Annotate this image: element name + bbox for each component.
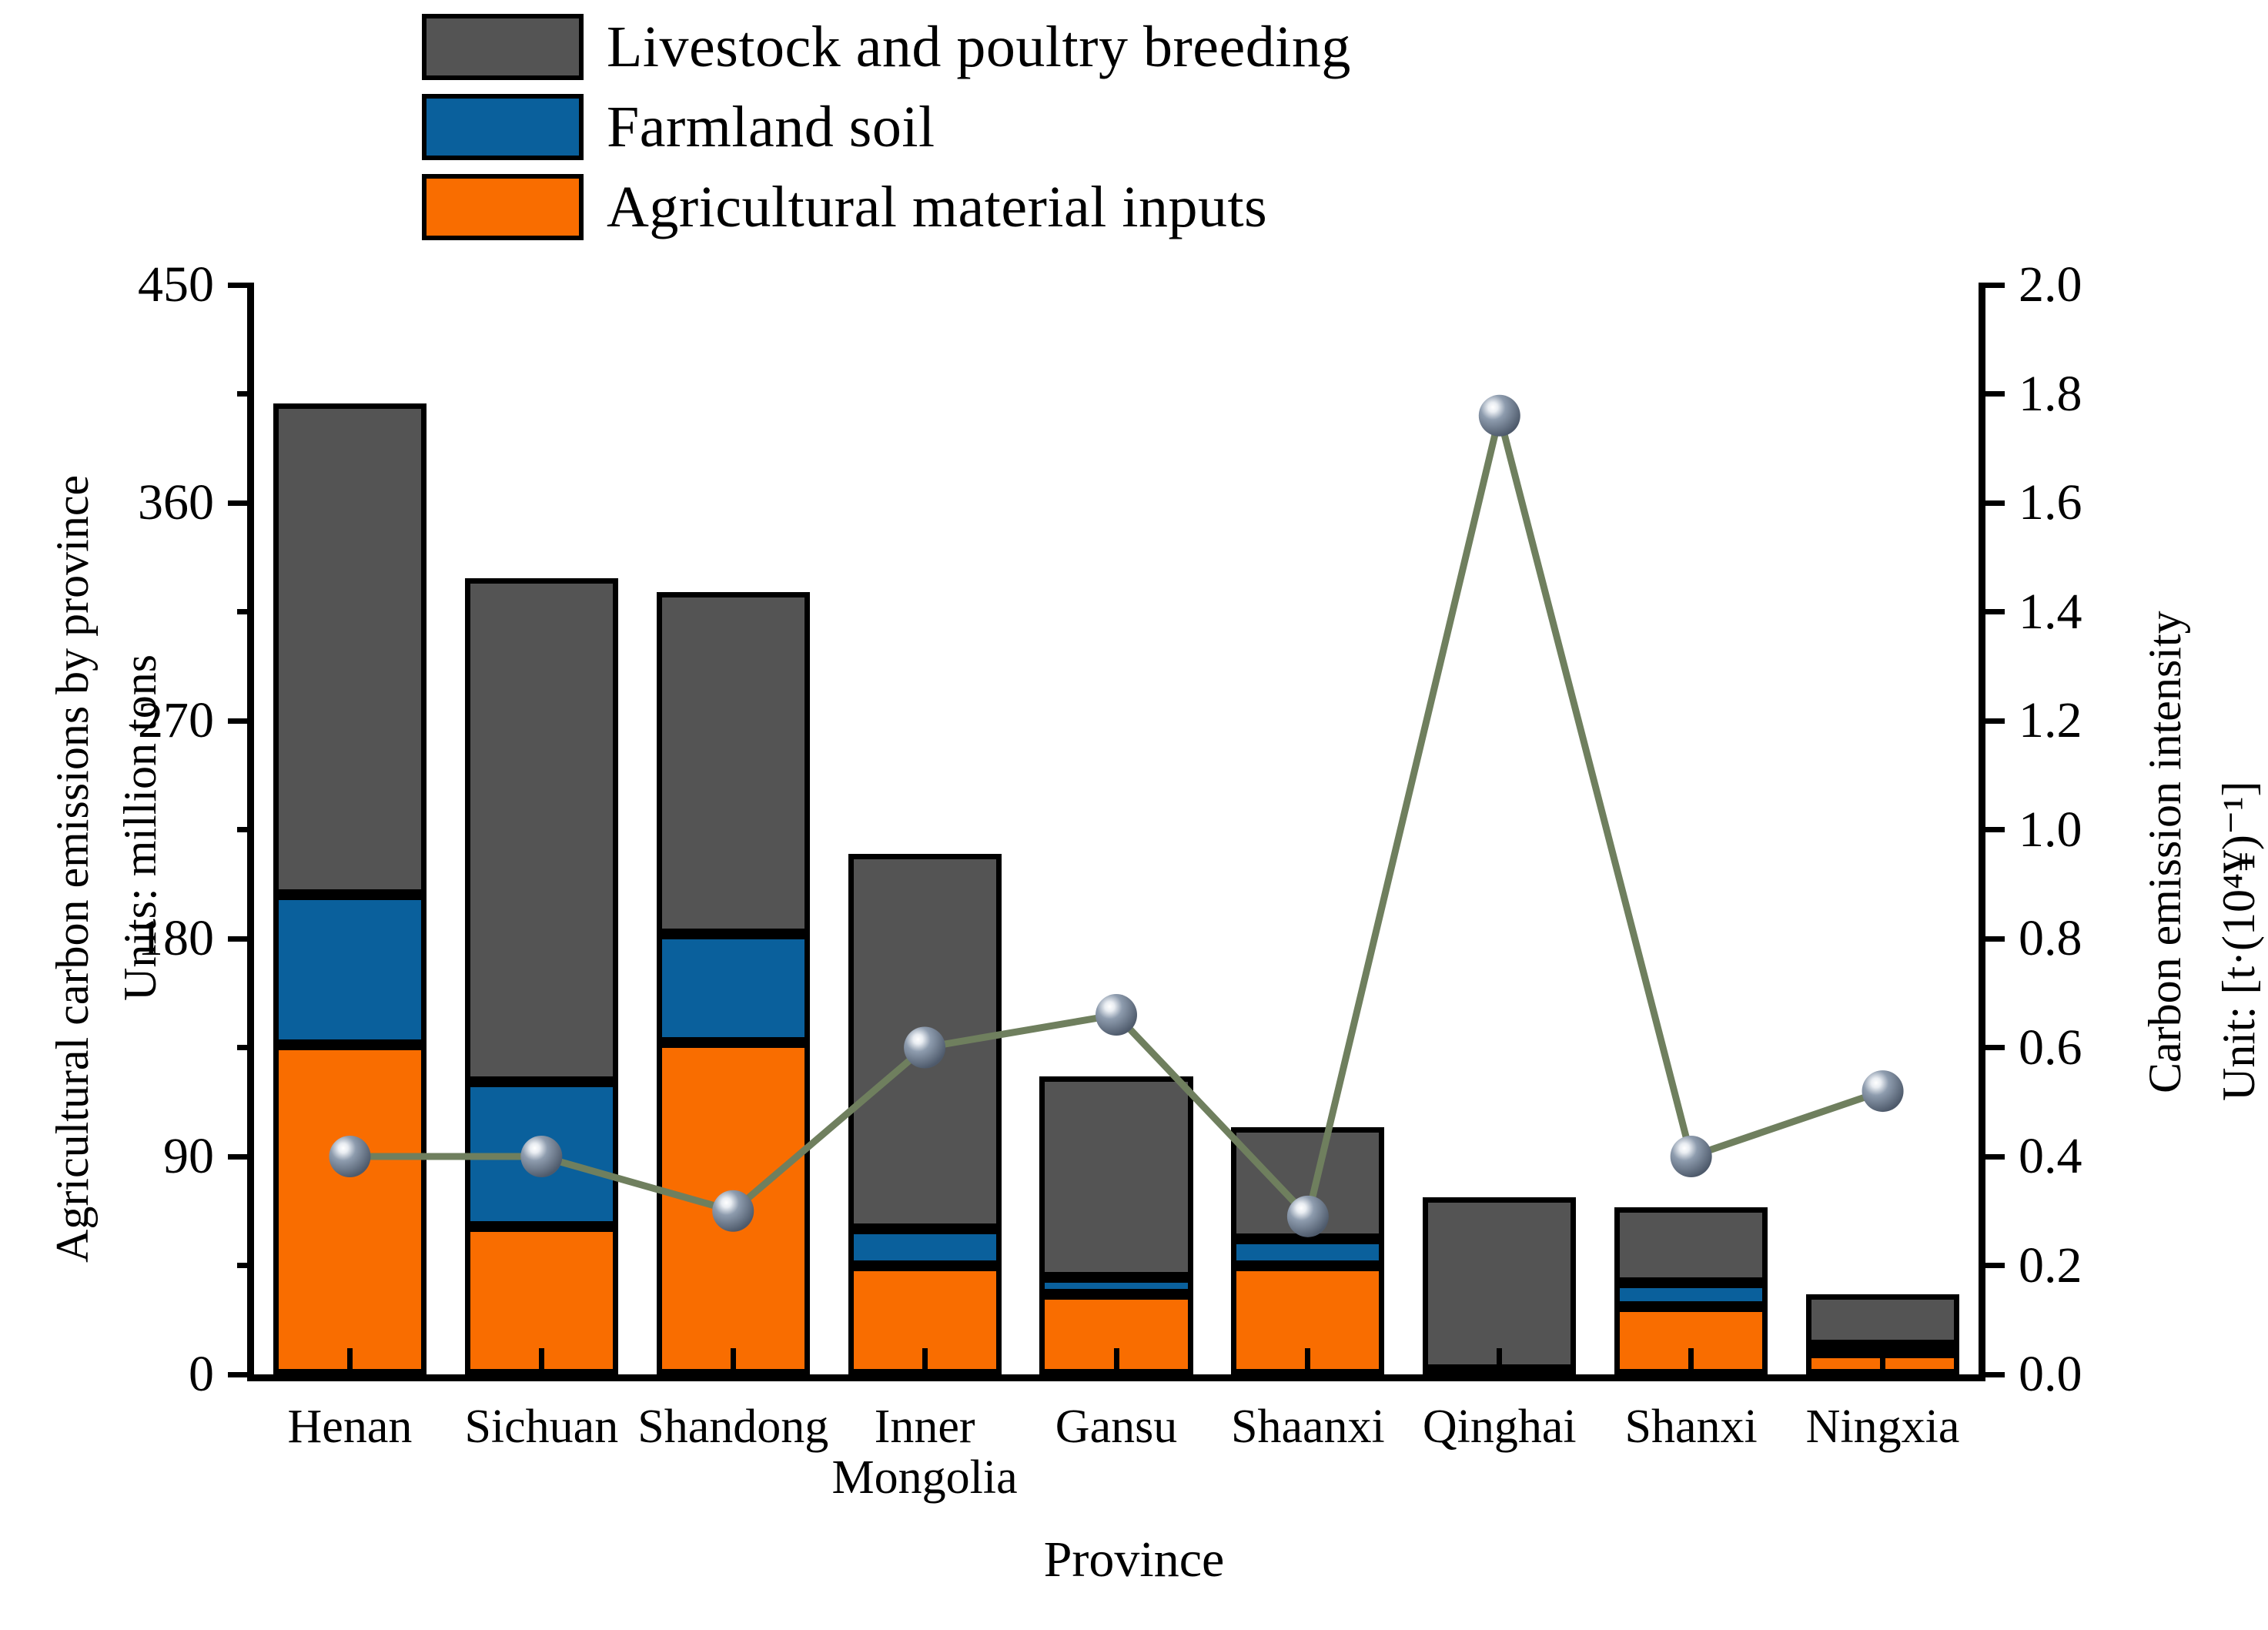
x-axis-label-text: Shanxi [1625,1402,1758,1453]
x-axis-label-text: Shandong [637,1402,828,1453]
x-axis-title: Province [0,1531,2268,1589]
intensity-marker-henan[interactable] [329,1136,370,1177]
right-tick-label-1.6: 1.6 [2019,477,2082,528]
x-axis-label-gansu: Gansu [1055,1402,1177,1453]
sphere-marker-icon [329,1136,370,1177]
left-minor-tick [237,1045,254,1050]
x-tick-shandong [731,1348,736,1374]
right-tick-label-0.2: 0.2 [2019,1240,2082,1291]
x-tick-inner-mongolia [922,1348,928,1374]
right-tick-2.0 [1979,283,2005,288]
right-tick-1.8 [1979,391,2005,397]
legend-item-inputs[interactable]: Agricultural material inputs [422,174,1351,240]
right-tick-0.0 [1979,1372,2005,1377]
left-tick-180 [228,936,254,942]
sphere-marker-icon [712,1190,754,1232]
left-minor-tick [237,1263,254,1268]
legend-swatch-livestock [422,14,584,80]
right-tick-0.6 [1979,1045,2005,1050]
right-tick-label-1.2: 1.2 [2019,695,2082,746]
x-axis-label-text: Ningxia [1806,1402,1960,1453]
legend-item-livestock[interactable]: Livestock and poultry breeding [422,14,1351,80]
left-tick-label-180: 180 [138,913,214,964]
intensity-marker-sichuan[interactable] [520,1136,562,1177]
x-axis-label-text: Mongolia [832,1453,1018,1504]
intensity-line-series [254,285,1979,1374]
right-tick-label-1.8: 1.8 [2019,369,2082,420]
sphere-marker-icon [1671,1136,1712,1177]
intensity-marker-qinghai[interactable] [1479,395,1520,437]
right-tick-1.2 [1979,718,2005,724]
right-tick-label-2.0: 2.0 [2019,259,2082,310]
right-tick-label-0.6: 0.6 [2019,1023,2082,1073]
right-tick-0.2 [1979,1263,2005,1268]
legend-label-inputs: Agricultural material inputs [607,178,1267,236]
x-axis-label-text: Sichuan [464,1402,618,1453]
intensity-marker-shaanxi[interactable] [1287,1196,1329,1237]
x-axis-label-text: Qinghai [1423,1402,1577,1453]
sphere-marker-icon [1479,395,1520,437]
x-axis-label-text: Gansu [1055,1402,1177,1453]
sphere-marker-icon [1096,994,1137,1036]
right-axis-title-line1: Carbon emission intensity [2142,611,2188,1093]
left-minor-tick [237,391,254,397]
x-tick-qinghai [1497,1348,1502,1374]
left-minor-tick [237,609,254,614]
left-tick-label-450: 450 [138,259,214,310]
intensity-marker-shandong[interactable] [712,1190,754,1232]
right-tick-1.0 [1979,827,2005,832]
left-minor-tick [237,827,254,832]
left-tick-90 [228,1154,254,1160]
x-axis-label-shanxi: Shanxi [1625,1402,1758,1453]
left-tick-label-0: 0 [189,1349,214,1400]
plot-area: 090180270360450 0.00.20.40.60.81.01.21.4… [254,285,1979,1374]
sphere-marker-icon [520,1136,562,1177]
right-tick-0.4 [1979,1154,2005,1160]
right-tick-label-1.0: 1.0 [2019,805,2082,855]
right-tick-label-0.4: 0.4 [2019,1131,2082,1182]
right-tick-label-0.8: 0.8 [2019,913,2082,964]
right-tick-0.8 [1979,936,2005,942]
right-tick-1.6 [1979,500,2005,506]
x-axis-label-text: Henan [288,1402,413,1453]
left-tick-label-360: 360 [138,477,214,528]
intensity-marker-ningxia[interactable] [1862,1070,1904,1112]
sphere-marker-icon [1287,1196,1329,1237]
x-tick-gansu [1114,1348,1119,1374]
intensity-marker-shanxi[interactable] [1671,1136,1712,1177]
legend-item-farmland[interactable]: Farmland soil [422,94,1351,160]
x-axis-label-shandong: Shandong [637,1402,828,1453]
x-axis-label-ningxia: Ningxia [1806,1402,1960,1453]
x-axis-label-inner-mongolia: InnerMongolia [832,1402,1018,1503]
left-tick-0 [228,1372,254,1377]
left-axis-title-line1: Agricultural carbon emissions by provinc… [49,475,95,1263]
right-axis-title-line2: Unit: [t·(10⁴¥)⁻¹] [2216,782,2262,1102]
right-tick-label-1.4: 1.4 [2019,587,2082,638]
x-axis-label-text: Inner [832,1402,1018,1453]
legend: Livestock and poultry breedingFarmland s… [422,14,1351,240]
x-axis-label-qinghai: Qinghai [1423,1402,1577,1453]
sphere-marker-icon [1862,1070,1904,1112]
left-tick-label-90: 90 [163,1131,214,1182]
x-axis-label-text: Shaanxi [1231,1402,1385,1453]
x-axis-label-shaanxi: Shaanxi [1231,1402,1385,1453]
x-axis-label-henan: Henan [288,1402,413,1453]
x-tick-sichuan [539,1348,544,1374]
left-tick-label-270: 270 [138,695,214,746]
bottom-axis-line [247,1374,1985,1381]
legend-label-livestock: Livestock and poultry breeding [607,18,1351,76]
intensity-marker-inner-mongolia[interactable] [904,1027,945,1069]
x-tick-henan [347,1348,353,1374]
intensity-marker-gansu[interactable] [1096,994,1137,1036]
x-tick-shanxi [1688,1348,1694,1374]
left-tick-270 [228,718,254,724]
sphere-marker-icon [904,1027,945,1069]
x-tick-shaanxi [1305,1348,1310,1374]
x-tick-ningxia [1880,1348,1885,1374]
legend-swatch-farmland [422,94,584,160]
legend-swatch-inputs [422,174,584,240]
left-tick-450 [228,283,254,288]
left-tick-360 [228,500,254,506]
right-tick-1.4 [1979,609,2005,614]
x-axis-label-sichuan: Sichuan [464,1402,618,1453]
legend-label-farmland: Farmland soil [607,98,935,156]
intensity-line [350,416,1882,1217]
right-tick-label-0.0: 0.0 [2019,1349,2082,1400]
